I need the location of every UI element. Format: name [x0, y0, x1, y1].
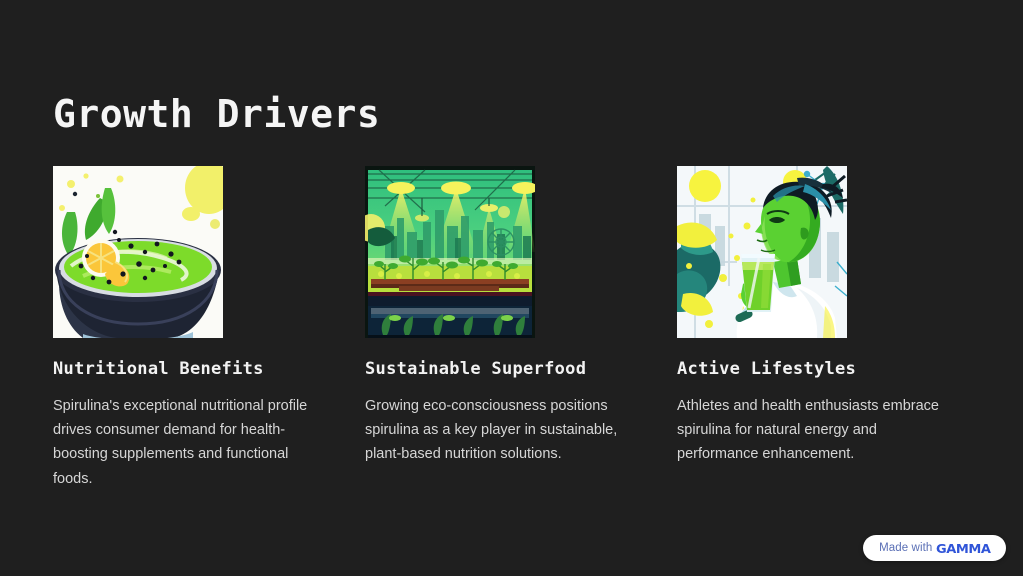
card-body-text: Growing eco-consciousness positions spir…: [365, 394, 643, 467]
card-body-text: Spirulina's exceptional nutritional prof…: [53, 394, 331, 491]
gamma-wordmark: GAMMA: [936, 541, 991, 556]
badge-prefix-label: Made with: [879, 542, 932, 554]
athlete-drinking-green-juice-illustration: [677, 166, 847, 338]
vertical-farm-greenhouse-illustration: [365, 166, 535, 338]
athlete-green-juice-graphic: [677, 166, 847, 338]
growth-drivers-card-grid: Nutritional Benefits Spirulina's excepti…: [53, 166, 970, 491]
growth-driver-card: Nutritional Benefits Spirulina's excepti…: [53, 166, 348, 491]
card-body-text: Athletes and health enthusiasts embrace …: [677, 394, 955, 467]
page-title: Growth Drivers: [53, 90, 380, 138]
smoothie-bowl-graphic: [53, 166, 223, 338]
card-title: Sustainable Superfood: [365, 358, 660, 380]
green-smoothie-bowl-illustration: [53, 166, 223, 338]
growth-driver-card: Sustainable Superfood Growing eco-consci…: [365, 166, 660, 491]
slide-canvas: Growth Drivers: [0, 0, 1023, 576]
card-title: Active Lifestyles: [677, 358, 972, 380]
made-with-gamma-badge[interactable]: Made with GAMMA: [863, 535, 1006, 561]
greenhouse-farm-graphic: [365, 166, 535, 338]
card-title: Nutritional Benefits: [53, 358, 348, 380]
growth-driver-card: Active Lifestyles Athletes and health en…: [677, 166, 972, 491]
